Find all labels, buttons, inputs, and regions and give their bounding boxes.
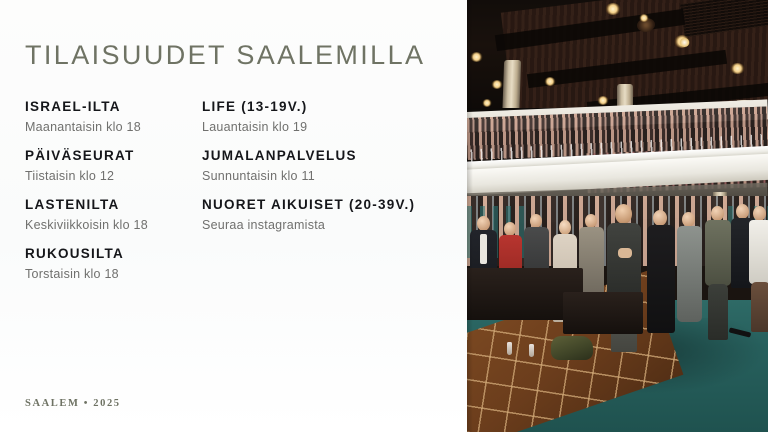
list-item: LIFE (13-19V.) Lauantaisin klo 19 xyxy=(202,100,467,135)
page-title: TILAISUUDET SAALEMILLA xyxy=(25,40,425,71)
photo-edge-shading xyxy=(467,0,473,432)
event-name: NUORET AIKUISET (20-39V.) xyxy=(202,198,467,212)
congregation-photo xyxy=(467,0,768,432)
ceiling-spotlight xyxy=(482,99,492,107)
events-column-left: ISRAEL-ILTA Maanantaisin klo 18 PÄIVÄSEU… xyxy=(25,100,205,282)
event-name: JUMALANPALVELUS xyxy=(202,149,467,163)
list-item: PÄIVÄSEURAT Tiistaisin klo 12 xyxy=(25,149,205,184)
event-name: LIFE (13-19V.) xyxy=(202,100,467,114)
slide-footer: SAALEM • 2025 xyxy=(25,398,121,409)
event-name: PÄIVÄSEURAT xyxy=(25,149,205,163)
ceiling-spotlight xyxy=(491,80,503,89)
ceiling-spotlight xyxy=(544,77,556,86)
event-time: Maanantaisin klo 18 xyxy=(25,121,205,135)
water-bottle xyxy=(507,342,512,355)
text-panel: TILAISUUDET SAALEMILLA ISRAEL-ILTA Maana… xyxy=(0,0,467,432)
event-time: Keskiviikkoisin klo 18 xyxy=(25,219,205,233)
ceiling-spotlight xyxy=(605,3,621,15)
events-column-right: LIFE (13-19V.) Lauantaisin klo 19 JUMALA… xyxy=(202,100,467,233)
list-item: ISRAEL-ILTA Maanantaisin klo 18 xyxy=(25,100,205,135)
ceiling-spotlight xyxy=(730,63,745,74)
event-time: Seuraa instagramista xyxy=(202,219,467,233)
list-item: NUORET AIKUISET (20-39V.) Seuraa instagr… xyxy=(202,198,467,233)
event-time: Lauantaisin klo 19 xyxy=(202,121,467,135)
ceiling-spotlight xyxy=(597,96,609,105)
water-bottle xyxy=(529,344,534,357)
list-item: LASTENILTA Keskiviikkoisin klo 18 xyxy=(25,198,205,233)
list-item: RUKOUSILTA Torstaisin klo 18 xyxy=(25,247,205,282)
event-name: RUKOUSILTA xyxy=(25,247,205,261)
event-name: LASTENILTA xyxy=(25,198,205,212)
event-name: ISRAEL-ILTA xyxy=(25,100,205,114)
event-time: Sunnuntaisin klo 11 xyxy=(202,170,467,184)
ceiling-spotlight xyxy=(679,38,690,47)
event-time: Tiistaisin klo 12 xyxy=(25,170,205,184)
ceiling-spotlight xyxy=(639,14,649,22)
event-time: Torstaisin klo 18 xyxy=(25,268,205,282)
list-item: JUMALANPALVELUS Sunnuntaisin klo 11 xyxy=(202,149,467,184)
presentation-slide: TILAISUUDET SAALEMILLA ISRAEL-ILTA Maana… xyxy=(0,0,768,432)
pew xyxy=(563,292,643,334)
backpack xyxy=(551,336,593,360)
